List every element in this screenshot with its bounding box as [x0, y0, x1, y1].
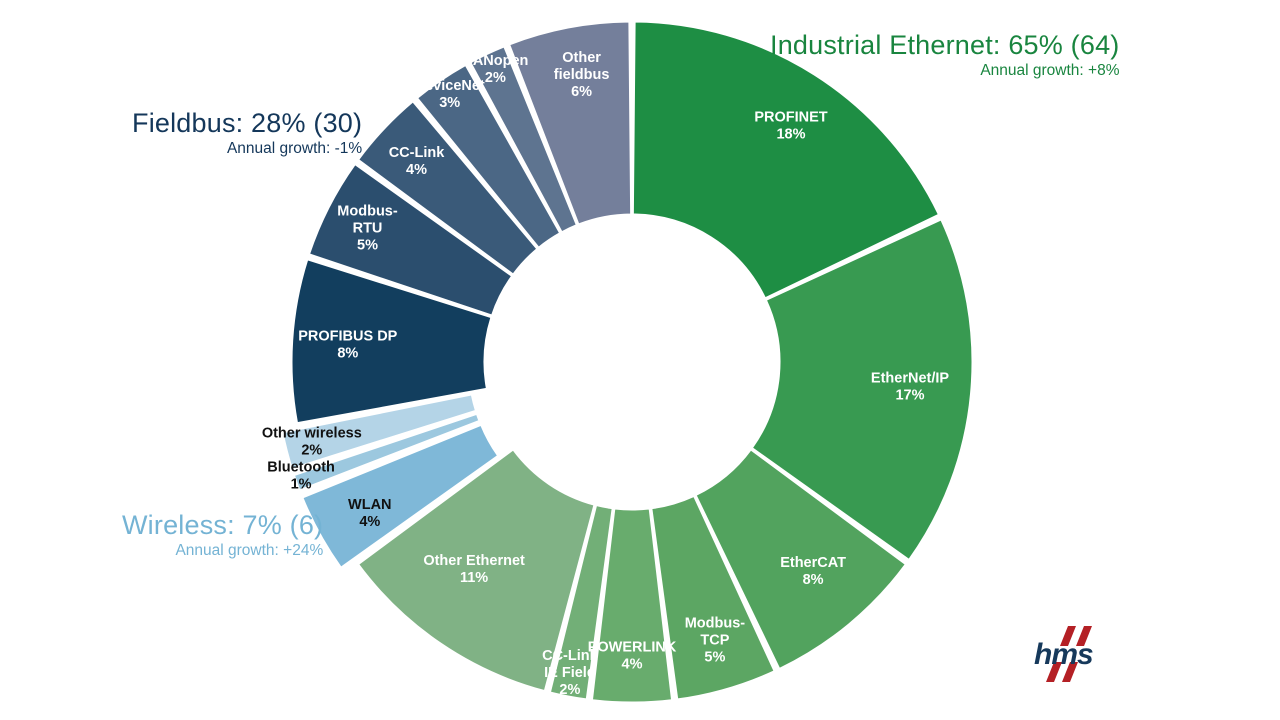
group-title-wireless: Wireless: 7% (6) [122, 510, 323, 540]
group-growth-industrial-ethernet: Annual growth: +8% [770, 62, 1119, 79]
group-title-industrial-ethernet: Industrial Ethernet: 65% (64) [770, 30, 1119, 60]
group-growth-wireless: Annual growth: +24% [122, 542, 323, 559]
group-label-wireless: Wireless: 7% (6) Annual growth: +24% [122, 510, 323, 560]
hms-logo-wordmark: hms [1034, 638, 1093, 671]
group-label-industrial-ethernet: Industrial Ethernet: 65% (64) Annual gro… [770, 30, 1119, 80]
group-label-fieldbus: Fieldbus: 28% (30) Annual growth: -1% [132, 108, 362, 158]
donut-slices [283, 22, 972, 702]
chart-canvas: PROFINET18%EtherNet/IP17%EtherCAT8%Modbu… [0, 0, 1280, 720]
hms-logo: hms [1026, 616, 1146, 690]
group-title-fieldbus: Fieldbus: 28% (30) [132, 108, 362, 138]
group-growth-fieldbus: Annual growth: -1% [132, 140, 362, 157]
